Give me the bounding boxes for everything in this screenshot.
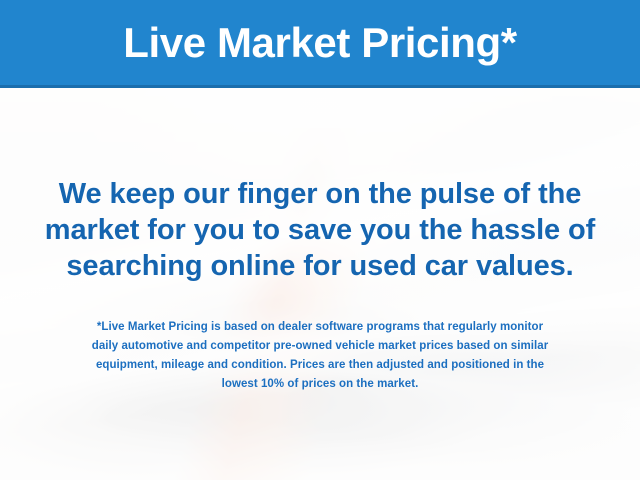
live-market-pricing-promo: Live Market Pricing* We keep our finger …: [0, 0, 640, 480]
promo-content: We keep our finger on the pulse of the m…: [0, 88, 640, 480]
headline-line-1: We keep our finger on the pulse of the: [0, 176, 640, 212]
header-banner: Live Market Pricing*: [0, 0, 640, 88]
disclaimer-line-3: equipment, mileage and condition. Prices…: [0, 356, 640, 375]
disclaimer-line-4: lowest 10% of prices on the market.: [0, 375, 640, 394]
disclaimer-block: *Live Market Pricing is based on dealer …: [0, 318, 640, 394]
disclaimer-line-2: daily automotive and competitor pre-owne…: [0, 337, 640, 356]
disclaimer-line-1: *Live Market Pricing is based on dealer …: [0, 318, 640, 337]
headline-line-3: searching online for used car values.: [0, 248, 640, 284]
headline-line-2: market for you to save you the hassle of: [0, 212, 640, 248]
headline-block: We keep our finger on the pulse of the m…: [0, 176, 640, 284]
page-title: Live Market Pricing*: [123, 22, 516, 67]
